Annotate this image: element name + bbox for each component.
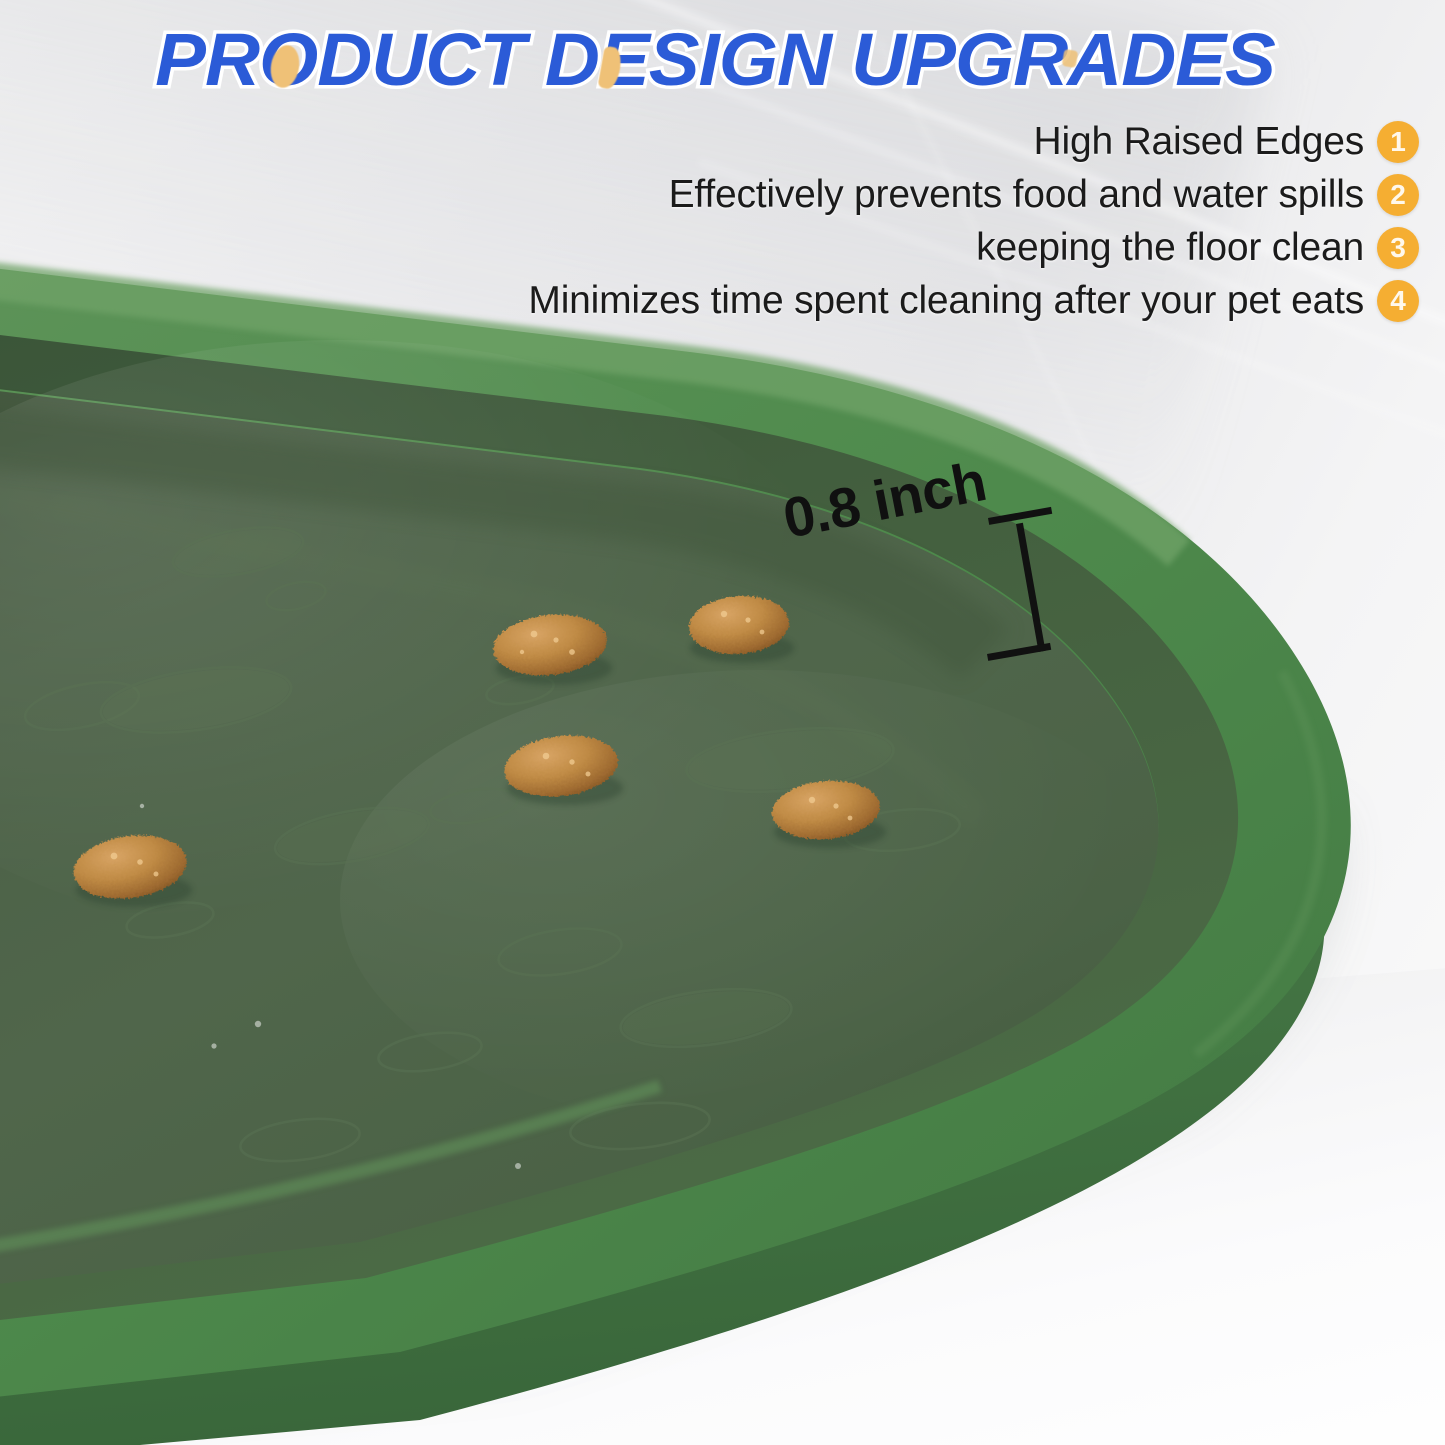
feature-number-badge: 1: [1377, 121, 1419, 163]
feature-item: Effectively prevents food and water spil…: [669, 173, 1419, 217]
feature-item: Minimizes time spent cleaning after your…: [528, 279, 1419, 323]
feature-label: keeping the floor clean: [976, 226, 1364, 270]
feature-list: High Raised Edges 1 Effectively prevents…: [528, 120, 1419, 323]
feature-label: High Raised Edges: [1034, 120, 1364, 164]
feature-label: Minimizes time spent cleaning after your…: [528, 279, 1364, 323]
feature-number-badge: 2: [1377, 174, 1419, 216]
feature-number-badge: 3: [1377, 227, 1419, 269]
feature-item: High Raised Edges 1: [1034, 120, 1419, 164]
product-marketing-image: PRODUCT DESIGN UPGRADES High Raised Edge…: [0, 0, 1445, 1445]
feature-number-badge: 4: [1377, 280, 1419, 322]
feature-label: Effectively prevents food and water spil…: [669, 173, 1364, 217]
feature-item: keeping the floor clean 3: [976, 226, 1419, 270]
page-title: PRODUCT DESIGN UPGRADES: [0, 17, 1445, 102]
